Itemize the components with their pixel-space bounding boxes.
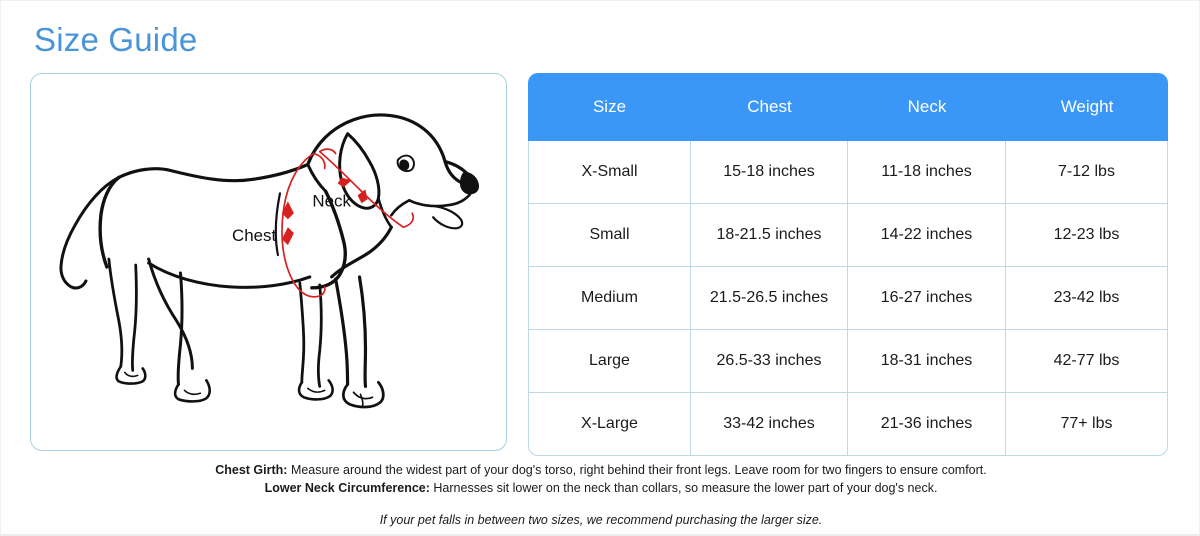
- table-row: Small 18-21.5 inches 14-22 inches 12-23 …: [528, 204, 1168, 267]
- size-table-head: Size Chest Neck Weight: [528, 73, 1168, 141]
- cell-neck: 11-18 inches: [848, 141, 1006, 204]
- cell-weight: 42-77 lbs: [1006, 330, 1168, 393]
- cell-neck: 21-36 inches: [848, 393, 1006, 456]
- sizing-advice-note: If your pet falls in between two sizes, …: [1, 513, 1200, 527]
- cell-weight: 12-23 lbs: [1006, 204, 1168, 267]
- footnotes: Chest Girth: Measure around the widest p…: [1, 461, 1200, 527]
- cell-weight: 7-12 lbs: [1006, 141, 1168, 204]
- page-title: Size Guide: [34, 19, 197, 61]
- size-table-body: X-Small 15-18 inches 11-18 inches 7-12 l…: [528, 141, 1168, 456]
- neck-circumference-term: Lower Neck Circumference:: [265, 481, 430, 495]
- cell-chest: 21.5-26.5 inches: [691, 267, 848, 330]
- cell-size: Small: [528, 204, 691, 267]
- cell-chest: 15-18 inches: [691, 141, 848, 204]
- chest-measure-loop: [282, 154, 325, 297]
- table-row: X-Large 33-42 inches 21-36 inches 77+ lb…: [528, 393, 1168, 456]
- dog-illustration-panel: Chest Neck: [30, 73, 507, 451]
- neck-measure-loop: [320, 149, 413, 227]
- chest-label: Chest: [232, 226, 276, 245]
- neck-circumference-note: Lower Neck Circumference: Harnesses sit …: [1, 479, 1200, 497]
- cell-neck: 18-31 inches: [848, 330, 1006, 393]
- cell-size: X-Large: [528, 393, 691, 456]
- cell-neck: 14-22 inches: [848, 204, 1006, 267]
- cell-size: Large: [528, 330, 691, 393]
- table-row: Large 26.5-33 inches 18-31 inches 42-77 …: [528, 330, 1168, 393]
- cell-chest: 33-42 inches: [691, 393, 848, 456]
- cell-size: Medium: [528, 267, 691, 330]
- cell-chest: 18-21.5 inches: [691, 204, 848, 267]
- column-header-size: Size: [528, 73, 691, 141]
- column-header-neck: Neck: [848, 73, 1006, 141]
- size-table: Size Chest Neck Weight X-Small 15-18 inc…: [528, 73, 1168, 456]
- cell-chest: 26.5-33 inches: [691, 330, 848, 393]
- cell-size: X-Small: [528, 141, 691, 204]
- column-header-weight: Weight: [1006, 73, 1168, 141]
- table-row: X-Small 15-18 inches 11-18 inches 7-12 l…: [528, 141, 1168, 204]
- chest-girth-note: Chest Girth: Measure around the widest p…: [1, 461, 1200, 479]
- table-header-row: Size Chest Neck Weight: [528, 73, 1168, 141]
- table-row: Medium 21.5-26.5 inches 16-27 inches 23-…: [528, 267, 1168, 330]
- dog-diagram-svg: Chest Neck: [31, 74, 506, 450]
- size-guide-page: Size Guide: [0, 0, 1200, 536]
- cell-neck: 16-27 inches: [848, 267, 1006, 330]
- column-header-chest: Chest: [691, 73, 848, 141]
- neck-label: Neck: [312, 191, 351, 210]
- chest-girth-text: Measure around the widest part of your d…: [287, 463, 986, 477]
- chest-girth-term: Chest Girth:: [215, 463, 287, 477]
- cell-weight: 23-42 lbs: [1006, 267, 1168, 330]
- cell-weight: 77+ lbs: [1006, 393, 1168, 456]
- neck-circumference-text: Harnesses sit lower on the neck than col…: [430, 481, 938, 495]
